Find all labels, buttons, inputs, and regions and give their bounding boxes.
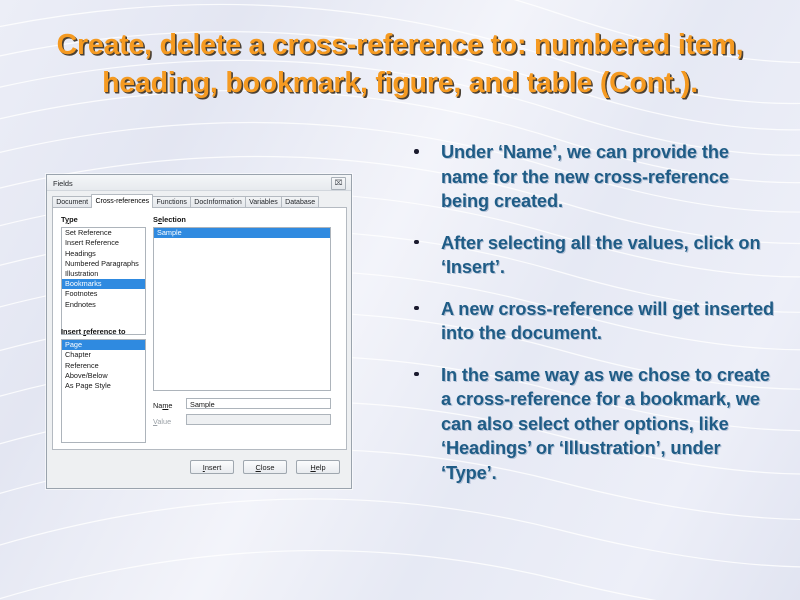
- insert-reference-to-group-label: Insert reference to: [61, 327, 126, 336]
- bullet-text: A new cross-reference will get inserted …: [441, 299, 774, 344]
- value-input: [186, 414, 331, 425]
- type-list-item[interactable]: Illustration: [62, 269, 145, 279]
- cross-references-panel: Type Set Reference Insert Reference Head…: [52, 207, 347, 450]
- bullet-text: After selecting all the values, click on…: [441, 233, 760, 278]
- insert-reference-item[interactable]: As Page Style: [62, 381, 145, 391]
- tab-cross-references[interactable]: Cross-references: [91, 194, 153, 208]
- insert-reference-item[interactable]: Chapter: [62, 350, 145, 360]
- selection-listbox[interactable]: Sample: [153, 227, 331, 391]
- bullet-dot-icon: [414, 306, 419, 311]
- dialog-title: Fields: [53, 179, 73, 188]
- type-list-item[interactable]: Set Reference: [62, 228, 145, 238]
- bullet-item: After selecting all the values, click on…: [406, 231, 778, 280]
- insert-button[interactable]: Insert: [190, 460, 234, 474]
- dialog-titlebar: Fields ⌧: [47, 175, 351, 191]
- type-listbox[interactable]: Set Reference Insert Reference Headings …: [61, 227, 146, 335]
- value-field-label: Value: [153, 417, 171, 426]
- bullet-dot-icon: [414, 240, 419, 245]
- insert-reference-item-selected[interactable]: Page: [62, 340, 145, 350]
- name-input[interactable]: Sample: [186, 398, 331, 409]
- bullet-dot-icon: [414, 149, 419, 154]
- type-list-item[interactable]: Insert Reference: [62, 238, 145, 248]
- bullet-text: In the same way as we chose to create a …: [441, 365, 770, 483]
- slide: Create, delete a cross-reference to: num…: [0, 0, 800, 600]
- type-list-item[interactable]: Numbered Paragraphs: [62, 259, 145, 269]
- insert-reference-to-listbox[interactable]: Page Chapter Reference Above/Below As Pa…: [61, 339, 146, 443]
- insert-reference-item[interactable]: Reference: [62, 360, 145, 370]
- type-group-label: Type: [61, 215, 78, 224]
- bullet-item: A new cross-reference will get inserted …: [406, 297, 778, 346]
- bullet-item: In the same way as we chose to create a …: [406, 363, 778, 486]
- insert-reference-item[interactable]: Above/Below: [62, 371, 145, 381]
- help-button[interactable]: Help: [296, 460, 340, 474]
- type-list-item[interactable]: Endnotes: [62, 299, 145, 309]
- bullet-dot-icon: [414, 372, 419, 377]
- close-icon[interactable]: ⌧: [331, 177, 346, 190]
- bullet-list: Under ‘Name’, we can provide the name fo…: [406, 140, 778, 485]
- name-field-label: Name: [153, 401, 172, 410]
- slide-title: Create, delete a cross-reference to: num…: [40, 26, 760, 102]
- type-list-item-selected[interactable]: Bookmarks: [62, 279, 145, 289]
- selection-group-label: Selection: [153, 215, 186, 224]
- bullet-item: Under ‘Name’, we can provide the name fo…: [406, 140, 778, 214]
- bullet-text: Under ‘Name’, we can provide the name fo…: [441, 142, 729, 211]
- close-button[interactable]: Close: [243, 460, 287, 474]
- selection-list-item-selected[interactable]: Sample: [154, 228, 330, 238]
- fields-dialog[interactable]: Fields ⌧ Document Cross-references Funct…: [46, 174, 352, 489]
- type-list-item[interactable]: Headings: [62, 248, 145, 258]
- type-list-item[interactable]: Footnotes: [62, 289, 145, 299]
